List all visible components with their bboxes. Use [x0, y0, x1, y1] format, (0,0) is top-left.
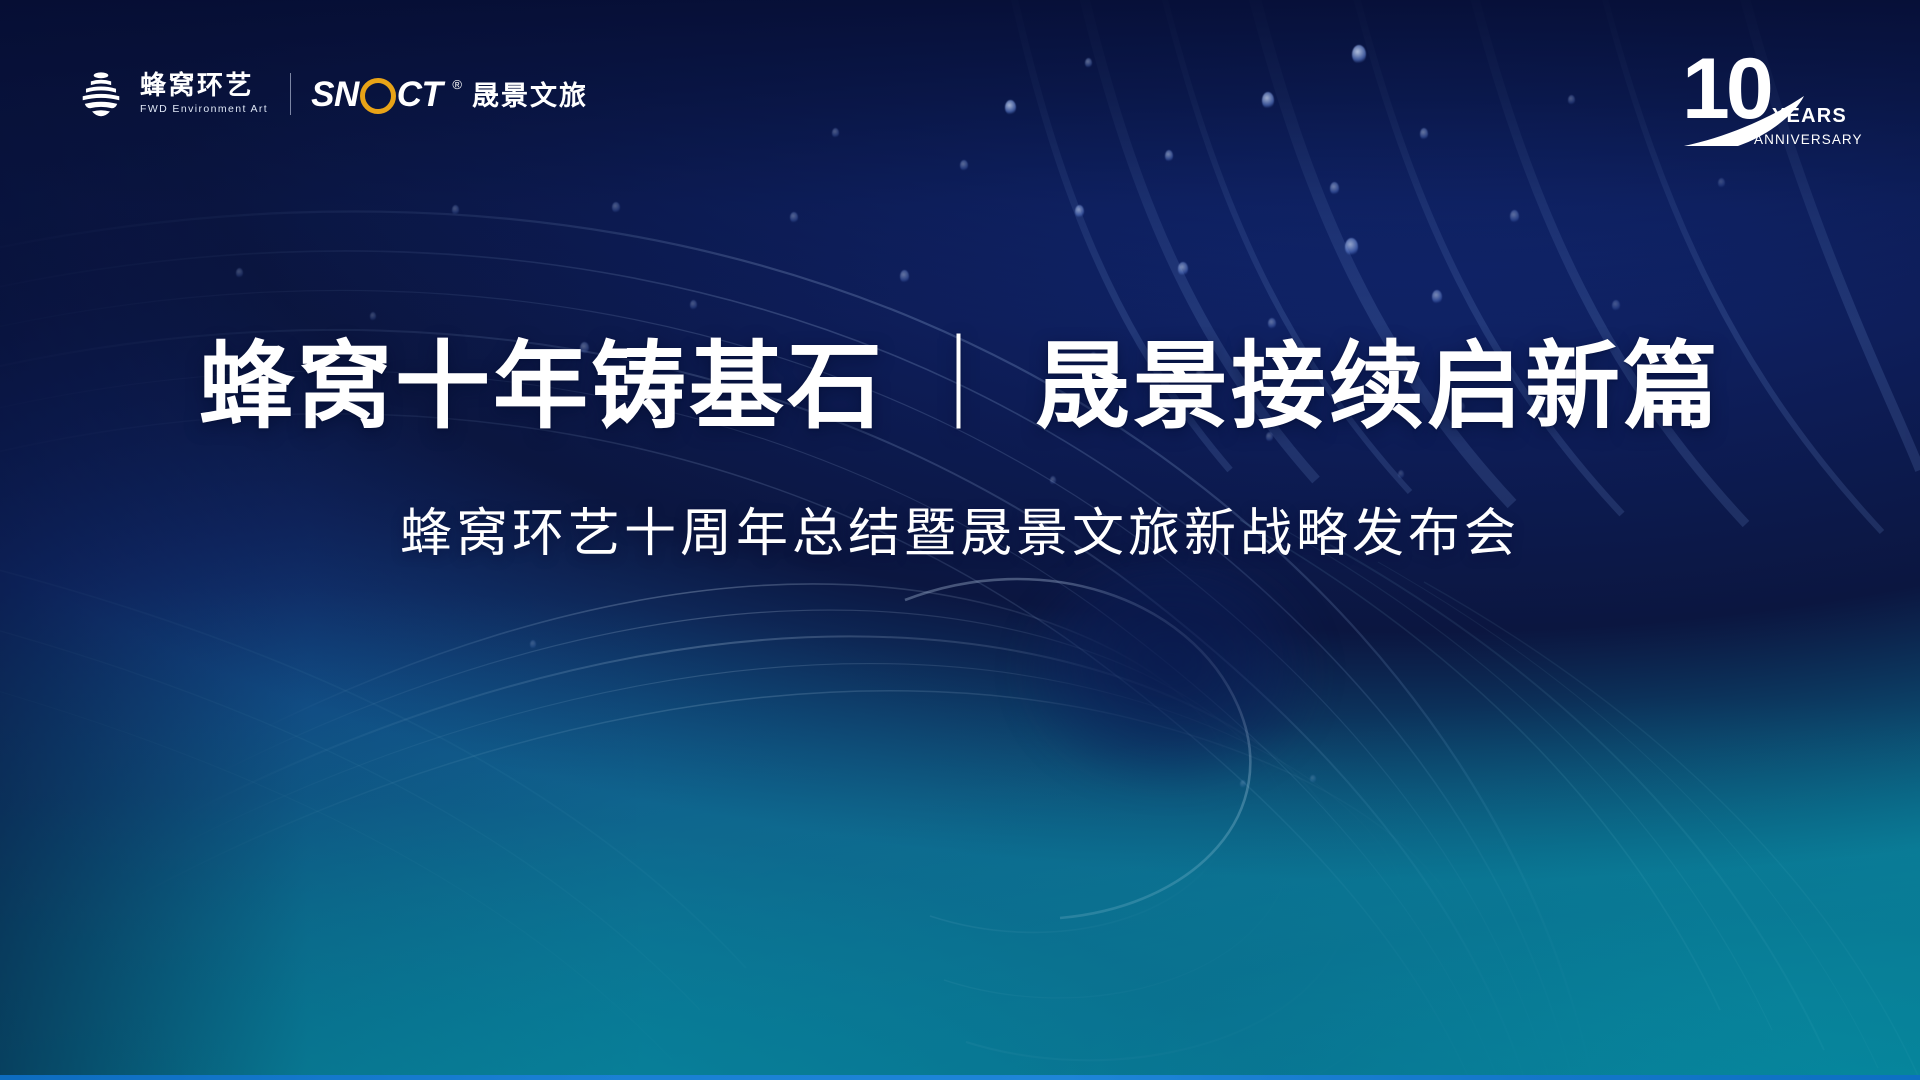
- sngct-wordmark-suffix: CT: [397, 77, 443, 112]
- anniversary-years-label: YEARS: [1772, 105, 1847, 127]
- fwd-logo-lockup[interactable]: 蜂窝环艺 FWD Environment Art: [75, 68, 268, 120]
- fwd-name-cn: 蜂窝环艺: [140, 72, 268, 99]
- headline-part-1: 蜂窝十年铸基石: [199, 334, 885, 440]
- sngct-logo-lockup[interactable]: SN CT ® 晟景文旅: [311, 76, 588, 112]
- page-title: 蜂窝十年铸基石｜晟景接续启新篇: [0, 332, 1920, 442]
- anniversary-anniversary-label: ANNIVERSARY: [1754, 132, 1862, 147]
- brand-logo-bar: 蜂窝环艺 FWD Environment Art SN CT ® 晟景文旅: [75, 63, 588, 125]
- sngct-wordmark-prefix: SN: [311, 77, 359, 112]
- anniversary-badge: 10 YEARS ANNIVERSARY: [1676, 38, 1862, 150]
- logo-divider: [290, 73, 291, 115]
- registered-trademark-icon: ®: [452, 78, 462, 91]
- sngct-name-cn: 晟景文旅: [472, 83, 588, 110]
- bottom-accent-strip: [0, 1075, 1920, 1080]
- headline-divider: ｜: [911, 330, 1009, 440]
- sngct-wordmark: SN CT: [311, 76, 442, 112]
- page-subtitle: 蜂窝环艺十周年总结暨晟景文旅新战略发布会: [0, 503, 1920, 565]
- headline-part-2: 晟景接续启新篇: [1035, 334, 1721, 440]
- beehive-icon: [75, 68, 127, 120]
- slide-canvas: 蜂窝环艺 FWD Environment Art SN CT ® 晟景文旅 10…: [0, 0, 1920, 1080]
- sngct-ring-glyph: [360, 78, 396, 114]
- fwd-name-en: FWD Environment Art: [140, 103, 268, 116]
